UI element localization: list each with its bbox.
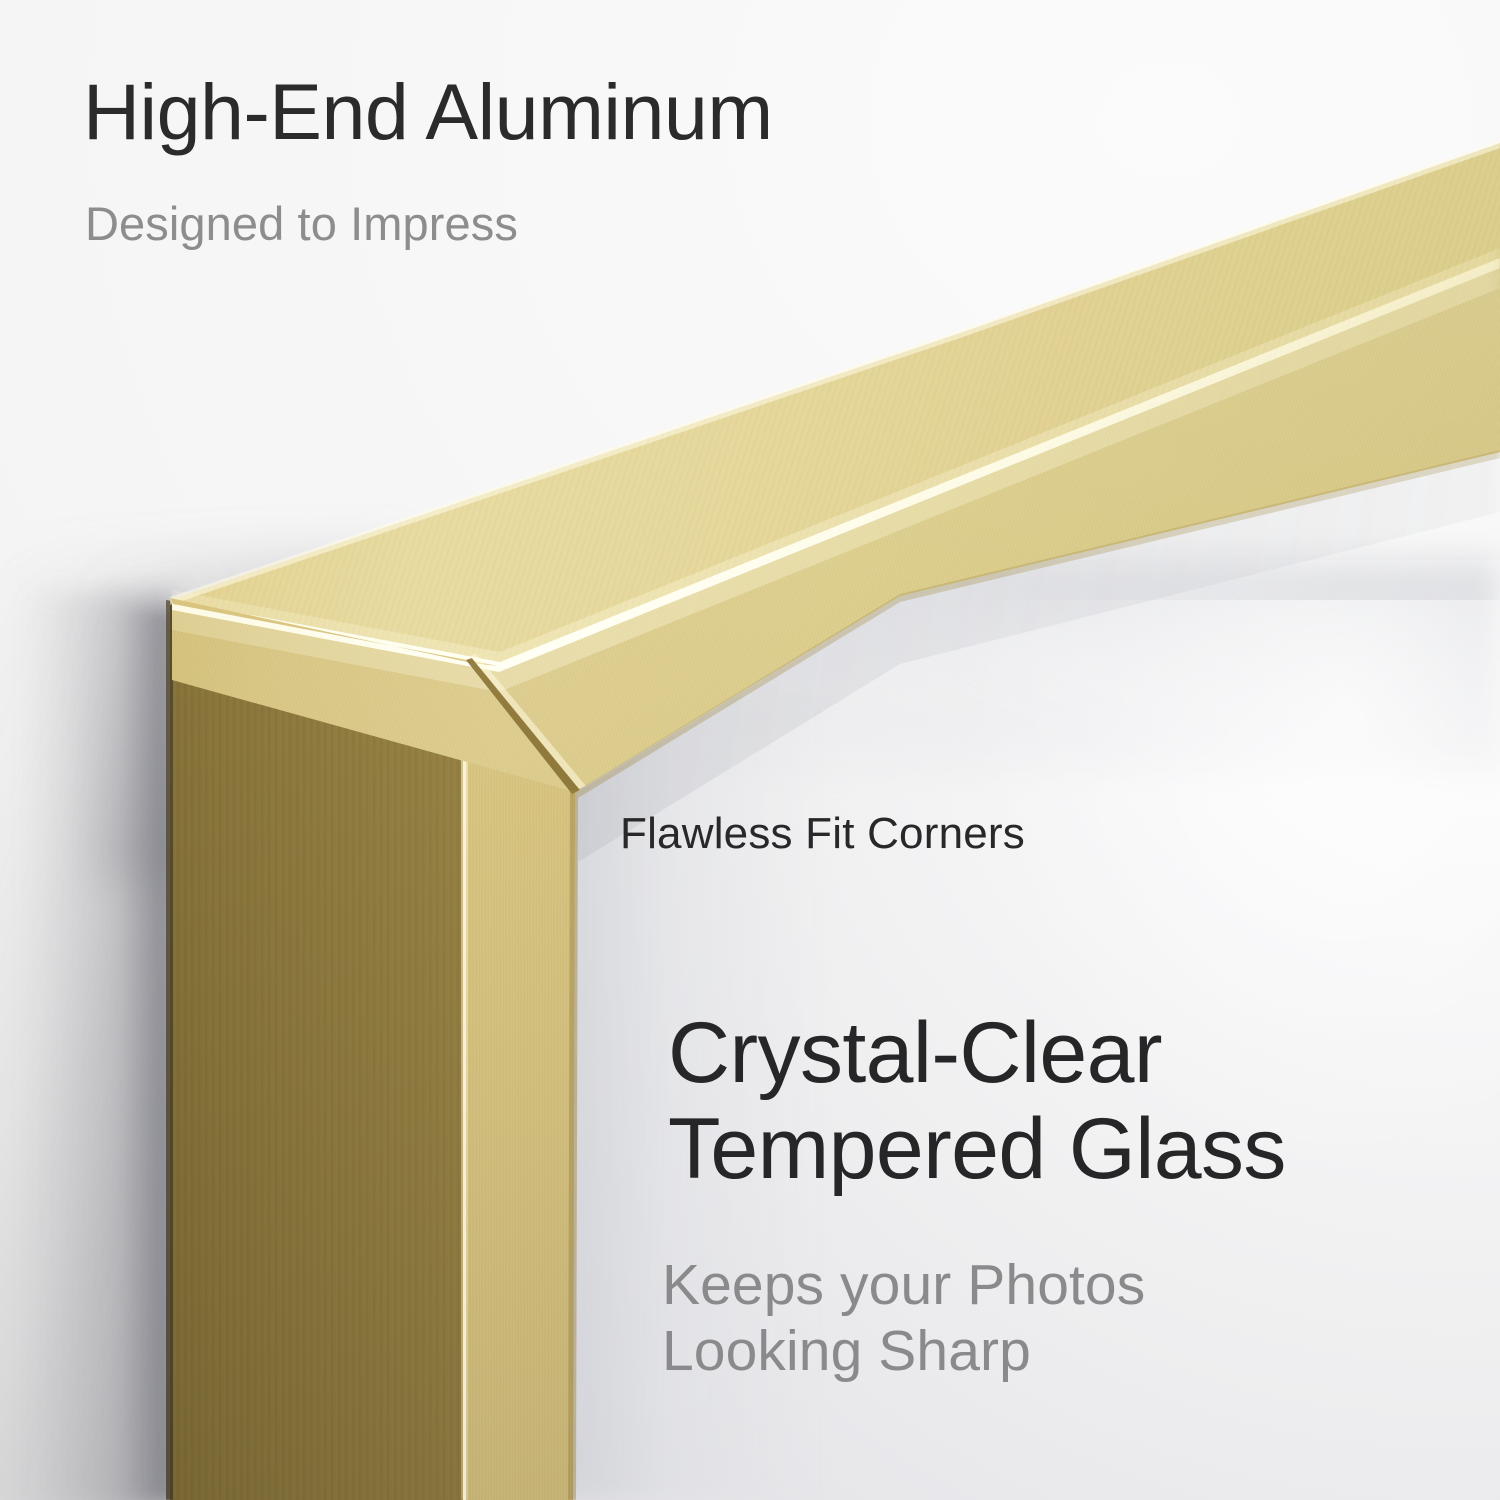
subheadline: Designed to Impress bbox=[85, 200, 518, 247]
glass-feature-subtitle: Keeps your Photos Looking Sharp bbox=[662, 1252, 1145, 1384]
headline: High-End Aluminum bbox=[83, 72, 773, 151]
glass-feature-title: Crystal-Clear Tempered Glass bbox=[668, 1005, 1286, 1198]
glass-feature-title-line-1: Crystal-Clear bbox=[668, 1005, 1286, 1101]
glass-feature-subtitle-line-1: Keeps your Photos bbox=[662, 1252, 1145, 1318]
product-feature-image: High-End Aluminum Designed to Impress Fl… bbox=[0, 0, 1500, 1500]
callout-flawless-fit-corners: Flawless Fit Corners bbox=[620, 812, 1025, 856]
glass-feature-subtitle-line-2: Looking Sharp bbox=[662, 1318, 1145, 1384]
glass-feature-title-line-2: Tempered Glass bbox=[668, 1101, 1286, 1197]
